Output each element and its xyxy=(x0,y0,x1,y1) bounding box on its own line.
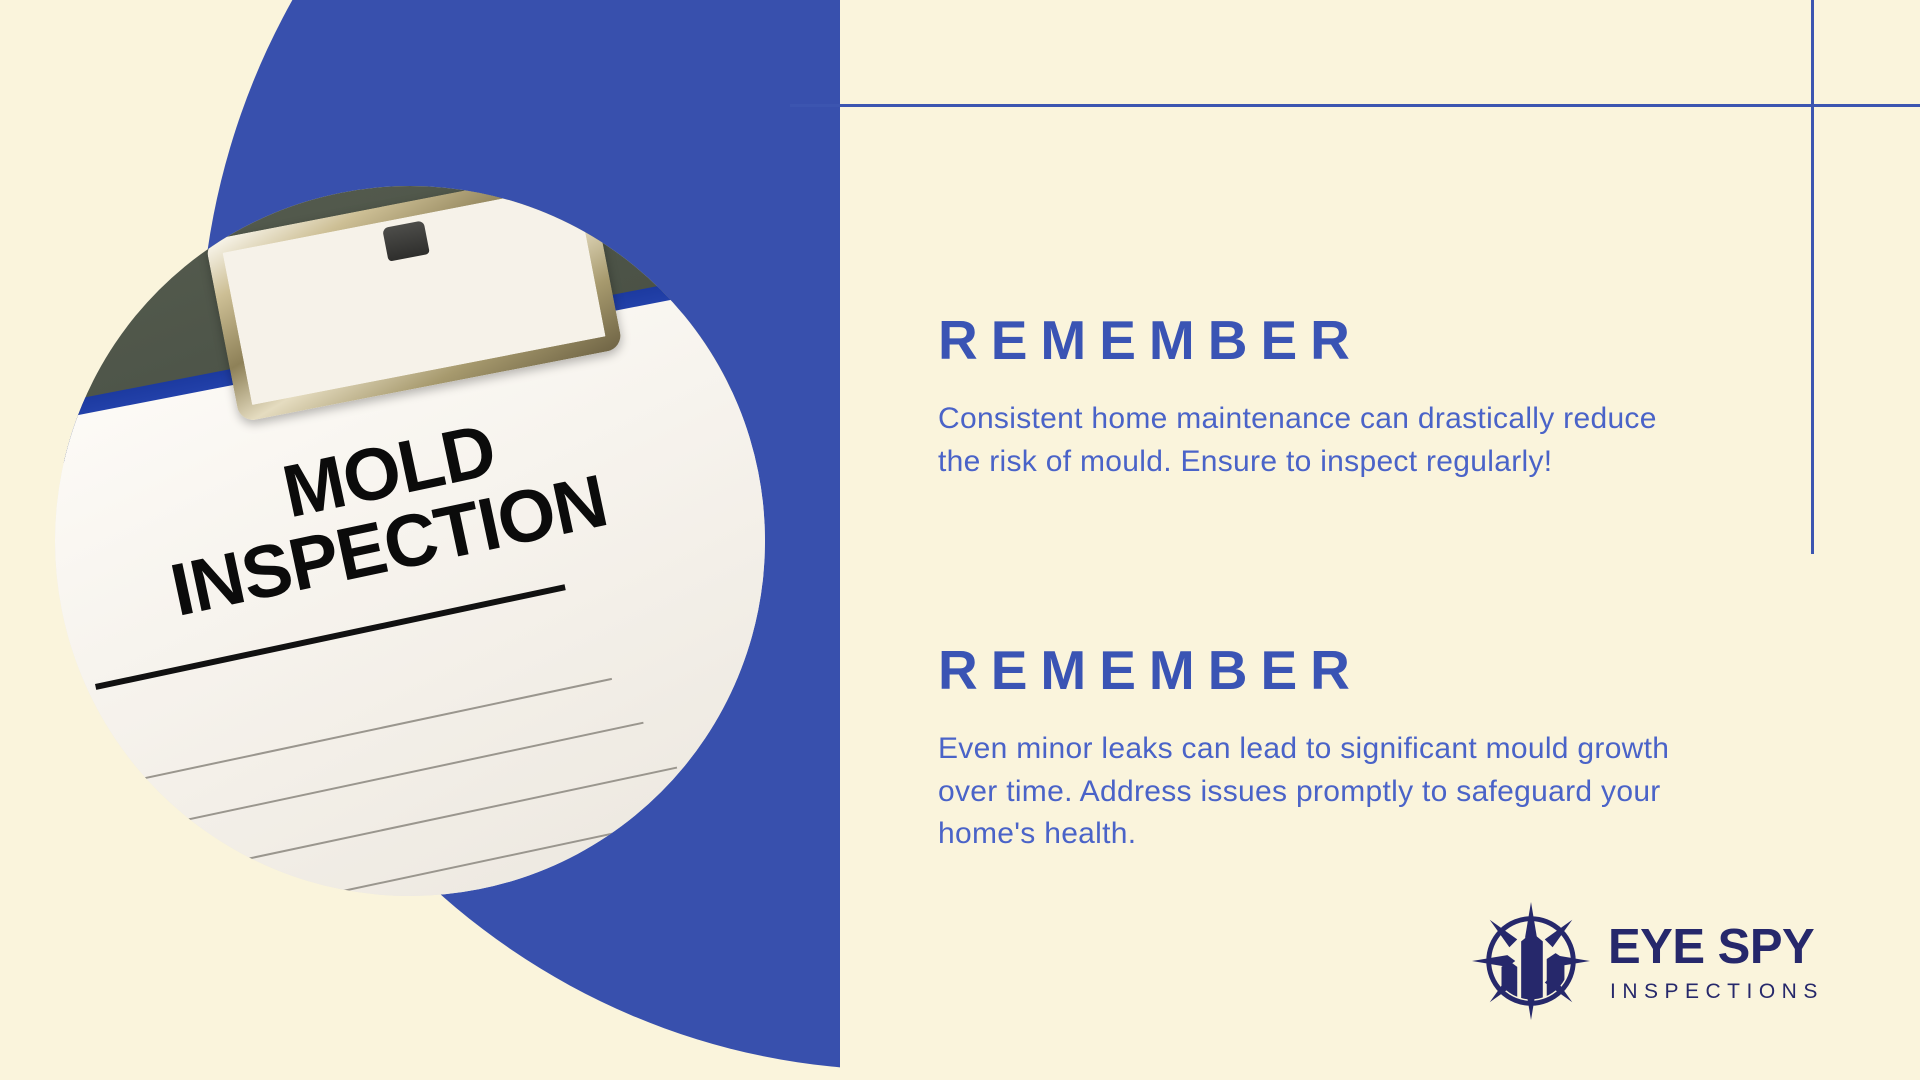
remember-block-1: REMEMBER Consistent home maintenance can… xyxy=(938,313,1738,483)
remember-heading-2: REMEMBER xyxy=(938,643,1738,698)
compass-skyline-icon xyxy=(1472,902,1590,1020)
mold-inspection-clipboard-photo: MOLD INSPECTION xyxy=(55,186,765,896)
eye-spy-inspections-logo: EYE SPY INSPECTIONS xyxy=(1472,898,1882,1023)
remember-block-2: REMEMBER Even minor leaks can lead to si… xyxy=(938,643,1738,856)
remember-body-1: Consistent home maintenance can drastica… xyxy=(938,398,1698,483)
photo-inner: MOLD INSPECTION xyxy=(55,186,765,896)
logo-subtitle: INSPECTIONS xyxy=(1608,981,1824,1002)
logo-title: EYE SPY xyxy=(1608,923,1824,972)
remember-body-2: Even minor leaks can lead to significant… xyxy=(938,728,1698,856)
logo-wordmark: EYE SPY INSPECTIONS xyxy=(1608,919,1824,1002)
remember-heading-1: REMEMBER xyxy=(938,313,1738,368)
